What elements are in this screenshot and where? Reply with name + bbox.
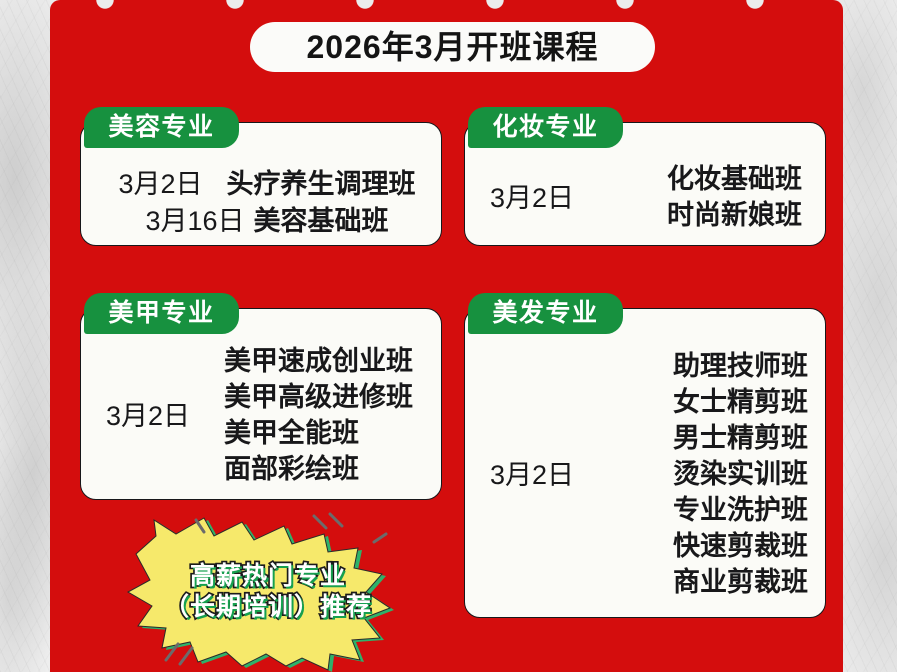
course-date: 3月2日: [106, 403, 190, 430]
course-name: 美甲速成创业班: [224, 344, 413, 380]
card-tag-label: 美发专业: [492, 301, 598, 326]
course-name: 面部彩绘班: [224, 452, 359, 488]
course-date: 3月2日: [119, 166, 227, 203]
course-list: 美甲速成创业班 美甲高级进修班 美甲全能班 面部彩绘班: [190, 344, 428, 488]
course-list: 化妆基础班 时尚新娘班: [574, 162, 802, 234]
course-name: 头疗养生调理班: [227, 166, 416, 203]
course-row: 3月16日 美容基础班: [146, 203, 389, 240]
card-tag-makeup: 化妆专业: [468, 107, 623, 148]
course-card-nails[interactable]: 美甲专业 3月2日 美甲速成创业班 美甲高级进修班 美甲全能班 面部彩绘班: [80, 308, 442, 500]
course-name: 男士精剪班: [673, 421, 808, 457]
course-card-hair[interactable]: 美发专业 3月2日 助理技师班 女士精剪班 男士精剪班 烫染实训班 专业洗护班 …: [464, 308, 826, 618]
card-content: 3月2日 头疗养生调理班 3月16日 美容基础班: [106, 166, 428, 239]
course-card-makeup[interactable]: 化妆专业 3月2日 化妆基础班 时尚新娘班: [464, 122, 826, 246]
course-name: 助理技师班: [673, 349, 808, 385]
course-name: 快速剪裁班: [673, 529, 808, 565]
course-name: 时尚新娘班: [667, 198, 802, 234]
card-tag-label: 美容专业: [108, 115, 214, 140]
course-date: 3月16日: [146, 203, 254, 240]
course-name: 女士精剪班: [673, 385, 808, 421]
course-name: 商业剪裁班: [673, 565, 808, 601]
course-card-beauty[interactable]: 美容专业 3月2日 头疗养生调理班 3月16日 美容基础班: [80, 122, 442, 246]
course-name: 美甲高级进修班: [224, 380, 413, 416]
course-date: 3月2日: [490, 462, 574, 489]
badge-line-1: 高薪热门专业: [190, 562, 346, 592]
course-date: 3月2日: [490, 185, 574, 212]
course-row: 3月2日 头疗养生调理班: [119, 166, 416, 203]
card-content: 3月2日 美甲速成创业班 美甲高级进修班 美甲全能班 面部彩绘班: [106, 338, 428, 494]
course-name: 美容基础班: [254, 203, 389, 240]
course-list: 助理技师班 女士精剪班 男士精剪班 烫染实训班 专业洗护班 快速剪裁班 商业剪裁…: [574, 349, 808, 600]
card-tag-hair: 美发专业: [468, 293, 623, 334]
card-tag-label: 美甲专业: [108, 301, 214, 326]
course-name: 美甲全能班: [224, 416, 359, 452]
course-name: 化妆基础班: [667, 162, 802, 198]
card-tag-label: 化妆专业: [492, 115, 598, 140]
card-tag-beauty: 美容专业: [84, 107, 239, 148]
card-tag-nails: 美甲专业: [84, 293, 239, 334]
card-content: 3月2日 助理技师班 女士精剪班 男士精剪班 烫染实训班 专业洗护班 快速剪裁班…: [490, 338, 808, 612]
promo-starburst-badge[interactable]: 高薪热门专业 （长期培训）推荐: [118, 512, 418, 672]
course-name: 烫染实训班: [673, 457, 808, 493]
course-name: 专业洗护班: [673, 493, 808, 529]
poster-title-pill: 2026年3月开班课程: [250, 22, 655, 72]
card-content: 3月2日 化妆基础班 时尚新娘班: [490, 160, 802, 236]
badge-text-block: 高薪热门专业 （长期培训）推荐: [118, 512, 418, 672]
scalloped-top-edge: [50, 0, 843, 11]
badge-line-2: （长期培训）推荐: [164, 593, 372, 623]
page-title: 2026年3月开班课程: [307, 31, 599, 63]
